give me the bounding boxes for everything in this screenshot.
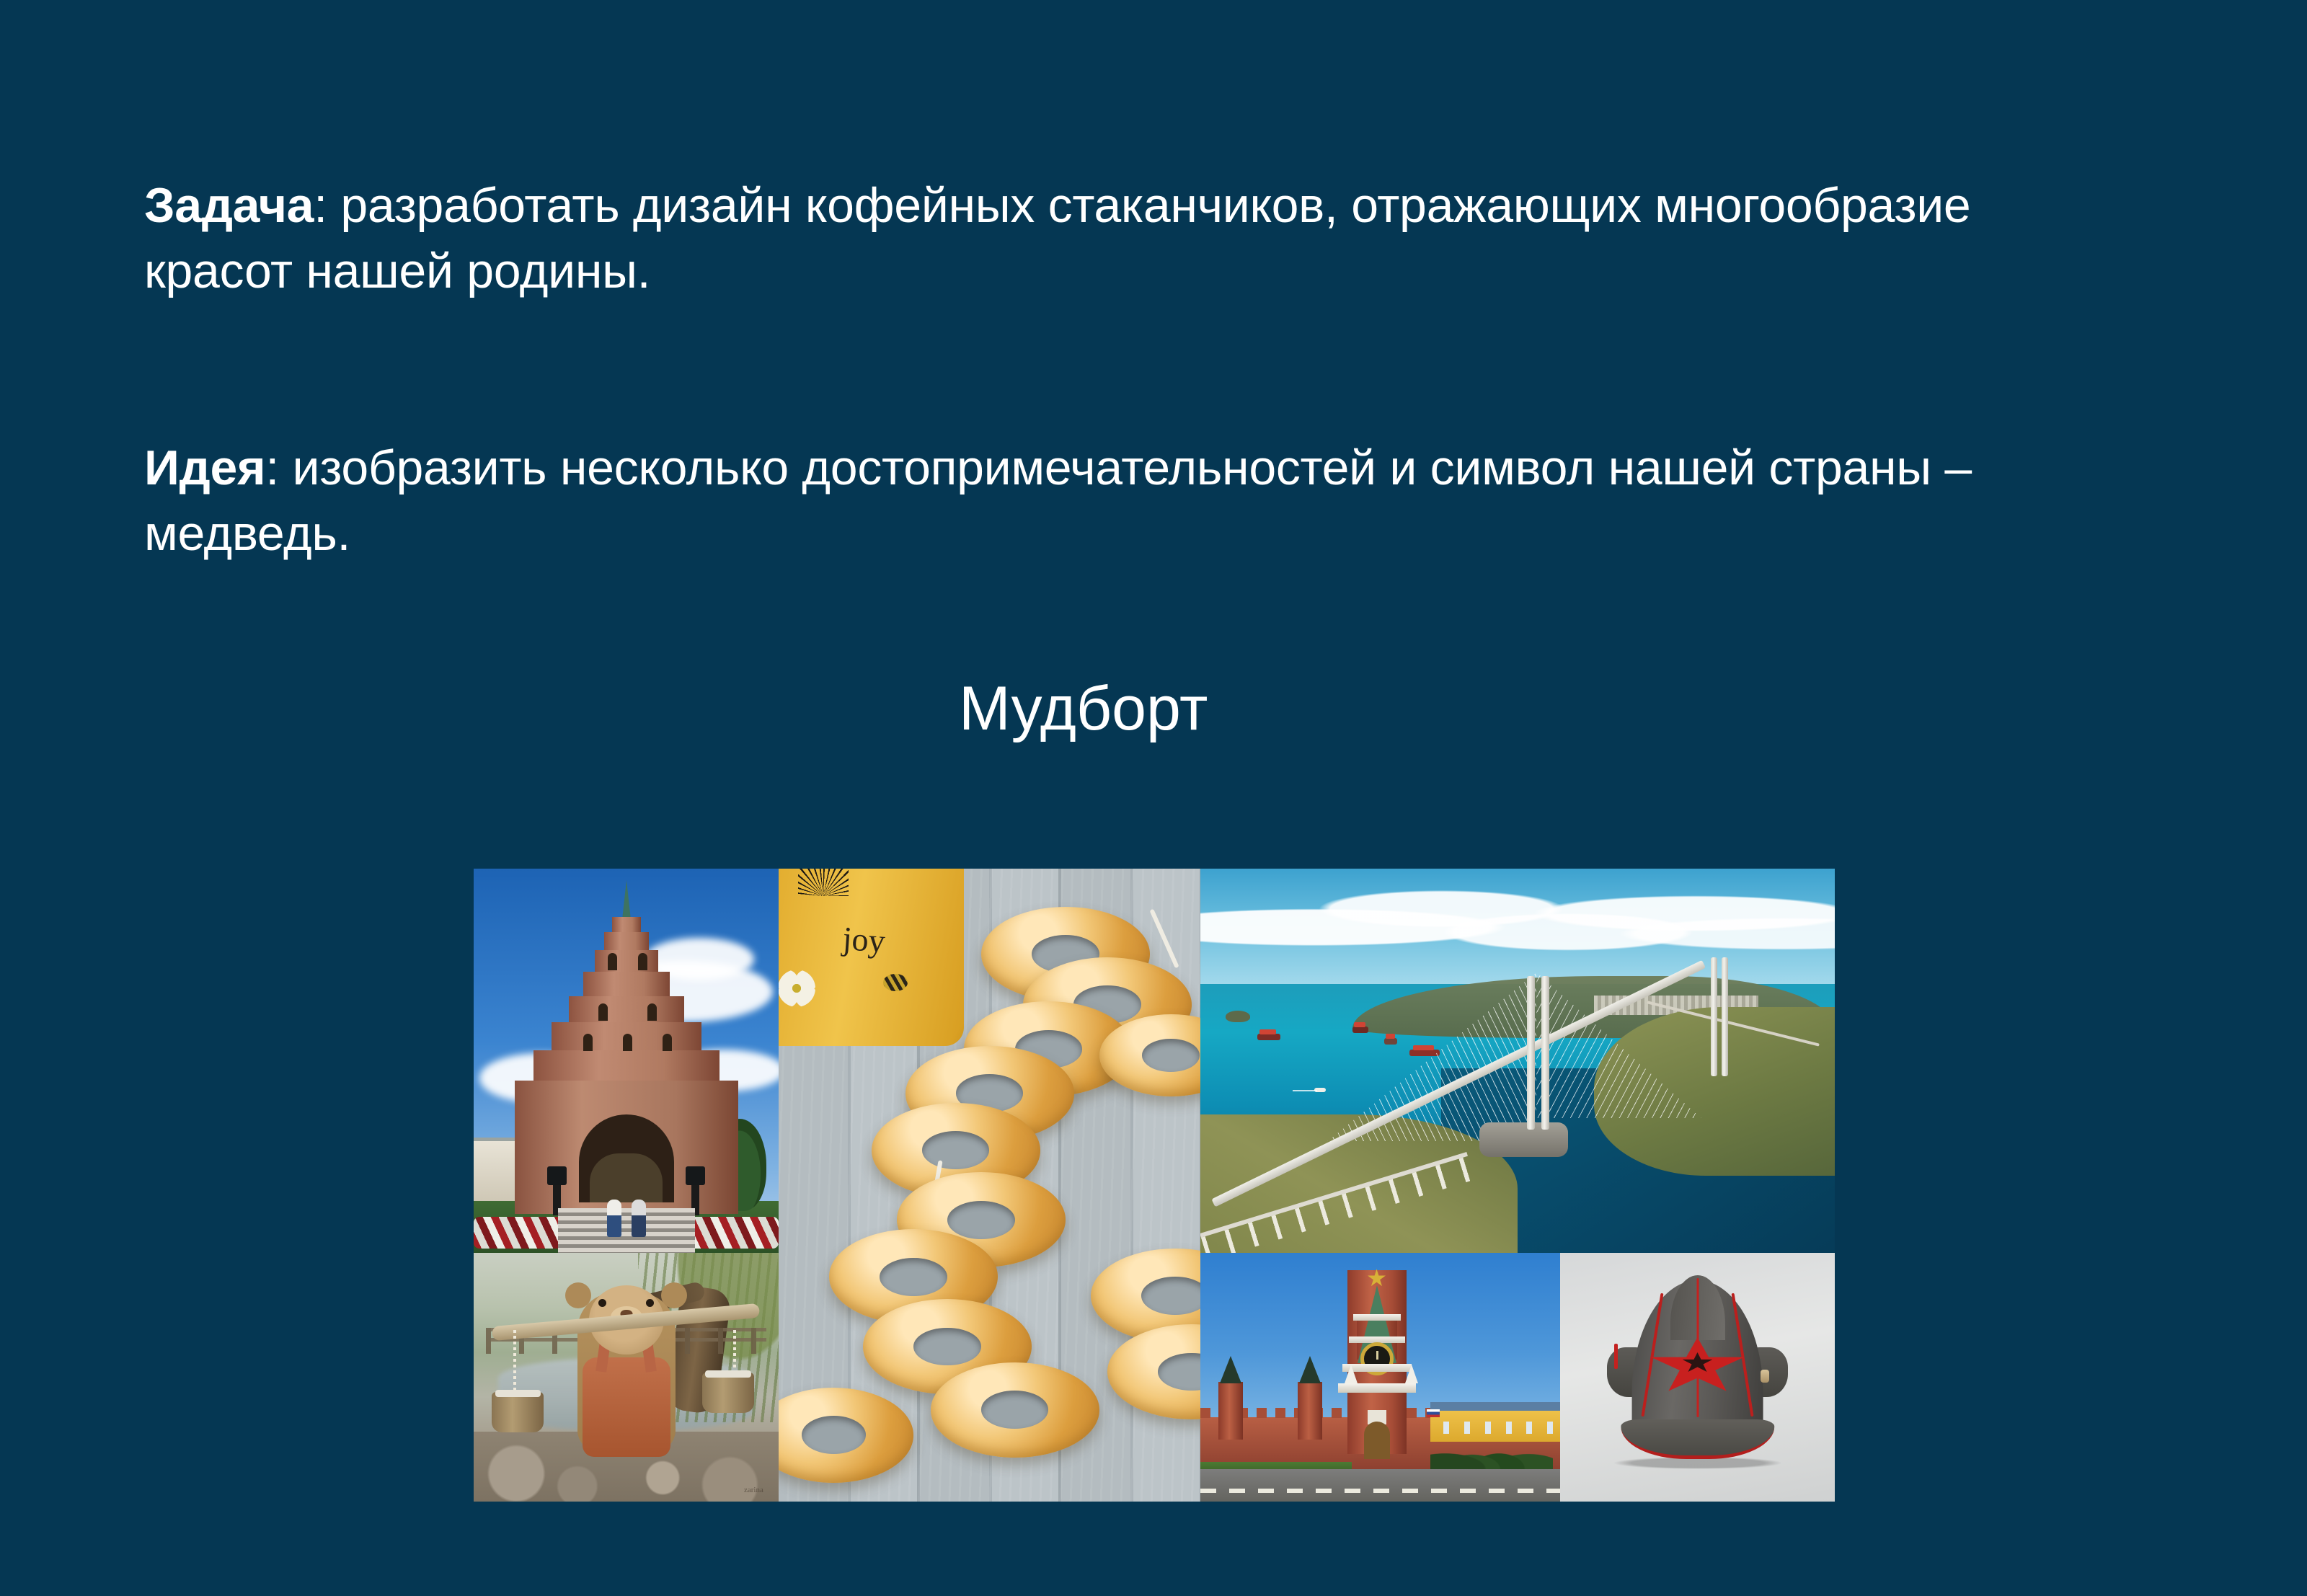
cloud-icon (1200, 877, 1835, 969)
moodboard-title: Мудборт (959, 678, 1208, 740)
idea-text: : изобразить несколько достопримечательн… (144, 440, 1972, 561)
sushka-ring (931, 1362, 1099, 1458)
bridge-pylon (1722, 957, 1728, 1076)
window (598, 1003, 608, 1021)
moodboard-image-bear[interactable]: zarina (474, 1253, 779, 1502)
idea-paragraph: Идея: изобразить несколько достопримечат… (144, 435, 2120, 567)
moodboard-image-budenovka[interactable] (1560, 1253, 1835, 1502)
bee-pattern (883, 974, 908, 991)
cargo-ship (1257, 1034, 1280, 1040)
turret (1345, 1365, 1358, 1383)
task-label: Задача (144, 178, 314, 233)
moodboard-image-bridge[interactable] (1200, 869, 1835, 1253)
moodboard-collage: zarina joy (474, 869, 1835, 1502)
slide-canvas: Задача: разработать дизайн кофейных стак… (0, 0, 2307, 1596)
bridge-pylon (1527, 976, 1535, 1130)
bucket-chain (513, 1330, 516, 1395)
window (623, 1034, 632, 1051)
cargo-ship (1352, 1027, 1368, 1033)
moodboard-image-kremlin[interactable] (1200, 1253, 1560, 1502)
task-text: : разработать дизайн кофейных стаканчико… (144, 178, 1970, 298)
task-paragraph: Задача: разработать дизайн кофейных стак… (144, 173, 2120, 304)
bridge-pylon (1541, 976, 1549, 1130)
cargo-ship (1384, 1038, 1397, 1045)
sea-rock (1226, 1011, 1250, 1022)
moodboard-image-tower-kazan[interactable] (474, 869, 779, 1253)
moodboard-image-sushki[interactable]: joy (779, 869, 1200, 1502)
mug-word: joy (841, 919, 886, 960)
bear-overalls (583, 1357, 670, 1457)
artist-signature: zarina (744, 1486, 763, 1494)
dandelion-pattern (798, 869, 849, 896)
fir-trees (1430, 1427, 1553, 1470)
window (663, 1034, 672, 1051)
cornice (1338, 1383, 1416, 1393)
yellow-mug: joy (779, 869, 964, 1046)
visitors (607, 1189, 646, 1237)
flag-icon (1427, 1409, 1440, 1417)
flower-pattern (779, 970, 815, 1007)
window (608, 953, 617, 970)
window (638, 953, 647, 970)
window (583, 1034, 593, 1051)
bucket-chain (733, 1330, 736, 1375)
bridge-pier (1479, 1122, 1568, 1157)
red-square-pavement (1200, 1469, 1560, 1502)
container-ship (1409, 1050, 1440, 1056)
corner-tower (1218, 1382, 1243, 1440)
water-bucket (702, 1373, 754, 1413)
corner-tower (1298, 1382, 1322, 1440)
bear-eye (646, 1299, 654, 1307)
text-block: Задача: разработать дизайн кофейных стак… (144, 173, 2134, 567)
turret (1405, 1365, 1418, 1383)
hat-button (1761, 1370, 1769, 1383)
water-bucket (492, 1392, 544, 1432)
window (647, 1003, 657, 1021)
motorboat (1314, 1088, 1326, 1092)
bridge-pylon (1711, 957, 1717, 1076)
gate (1364, 1422, 1390, 1459)
idea-label: Идея (144, 440, 265, 495)
cornice (1353, 1314, 1401, 1321)
